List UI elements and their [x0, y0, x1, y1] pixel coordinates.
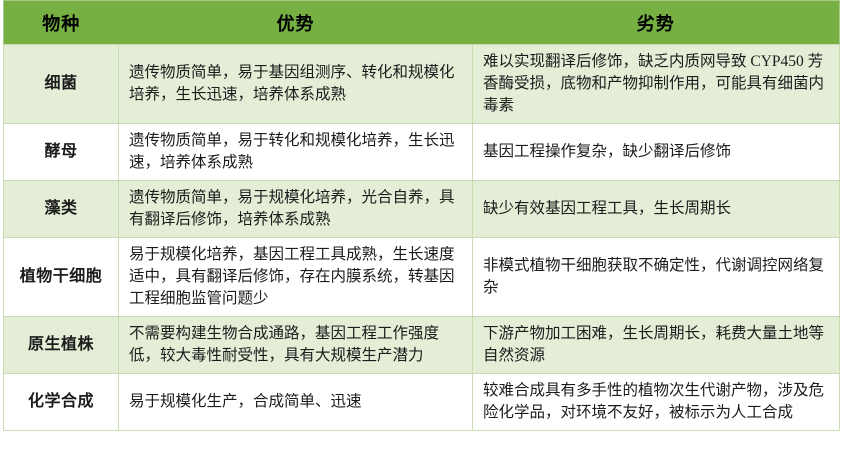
cell-species: 细菌: [4, 45, 119, 124]
column-header-disadvantages: 劣势: [473, 1, 840, 45]
column-header-advantages: 优势: [119, 1, 473, 45]
cell-disadvantages: 下游产物加工困难，生长周期长，耗费大量土地等自然资源: [473, 317, 840, 374]
cell-species: 酵母: [4, 124, 119, 181]
table-row: 植物干细胞 易于规模化培养，基因工程工具成熟，生长速度适中，具有翻译后修饰，存在…: [4, 238, 840, 317]
table-row: 原生植株 不需要构建生物合成通路，基因工程工作强度低，较大毒性耐受性，具有大规模…: [4, 317, 840, 374]
cell-advantages: 遗传物质简单，易于转化和规模化培养，生长迅速，培养体系成熟: [119, 124, 473, 181]
cell-species: 植物干细胞: [4, 238, 119, 317]
header-row: 物种 优势 劣势: [4, 1, 840, 45]
cell-disadvantages: 较难合成具有多手性的植物次生代谢产物，涉及危险化学品，对环境不友好，被标示为人工…: [473, 374, 840, 431]
table-row: 酵母 遗传物质简单，易于转化和规模化培养，生长迅速，培养体系成熟 基因工程操作复…: [4, 124, 840, 181]
cell-species: 藻类: [4, 181, 119, 238]
table-row: 化学合成 易于规模化生产，合成简单、迅速 较难合成具有多手性的植物次生代谢产物，…: [4, 374, 840, 431]
cell-advantages: 遗传物质简单，易于基因组测序、转化和规模化培养，生长迅速，培养体系成熟: [119, 45, 473, 124]
cell-disadvantages: 基因工程操作复杂，缺少翻译后修饰: [473, 124, 840, 181]
cell-advantages: 遗传物质简单，易于规模化培养，光合自养，具有翻译后修饰，培养体系成熟: [119, 181, 473, 238]
species-comparison-table: 物种 优势 劣势 细菌 遗传物质简单，易于基因组测序、转化和规模化培养，生长迅速…: [3, 0, 840, 431]
cell-species: 原生植株: [4, 317, 119, 374]
cell-disadvantages: 难以实现翻译后修饰，缺乏内质网导致 CYP450 芳香酶受损，底物和产物抑制作用…: [473, 45, 840, 124]
column-header-species: 物种: [4, 1, 119, 45]
cell-advantages: 易于规模化生产，合成简单、迅速: [119, 374, 473, 431]
table-row: 藻类 遗传物质简单，易于规模化培养，光合自养，具有翻译后修饰，培养体系成熟 缺少…: [4, 181, 840, 238]
cell-advantages: 不需要构建生物合成通路，基因工程工作强度低，较大毒性耐受性，具有大规模生产潜力: [119, 317, 473, 374]
cell-species: 化学合成: [4, 374, 119, 431]
cell-disadvantages: 非模式植物干细胞获取不确定性，代谢调控网络复杂: [473, 238, 840, 317]
cell-advantages: 易于规模化培养，基因工程工具成熟，生长速度适中，具有翻译后修饰，存在内膜系统，转…: [119, 238, 473, 317]
table-body: 细菌 遗传物质简单，易于基因组测序、转化和规模化培养，生长迅速，培养体系成熟 难…: [4, 45, 840, 431]
comparison-table-container: 物种 优势 劣势 细菌 遗传物质简单，易于基因组测序、转化和规模化培养，生长迅速…: [3, 0, 839, 431]
cell-disadvantages: 缺少有效基因工程工具，生长周期长: [473, 181, 840, 238]
table-header: 物种 优势 劣势: [4, 1, 840, 45]
table-row: 细菌 遗传物质简单，易于基因组测序、转化和规模化培养，生长迅速，培养体系成熟 难…: [4, 45, 840, 124]
